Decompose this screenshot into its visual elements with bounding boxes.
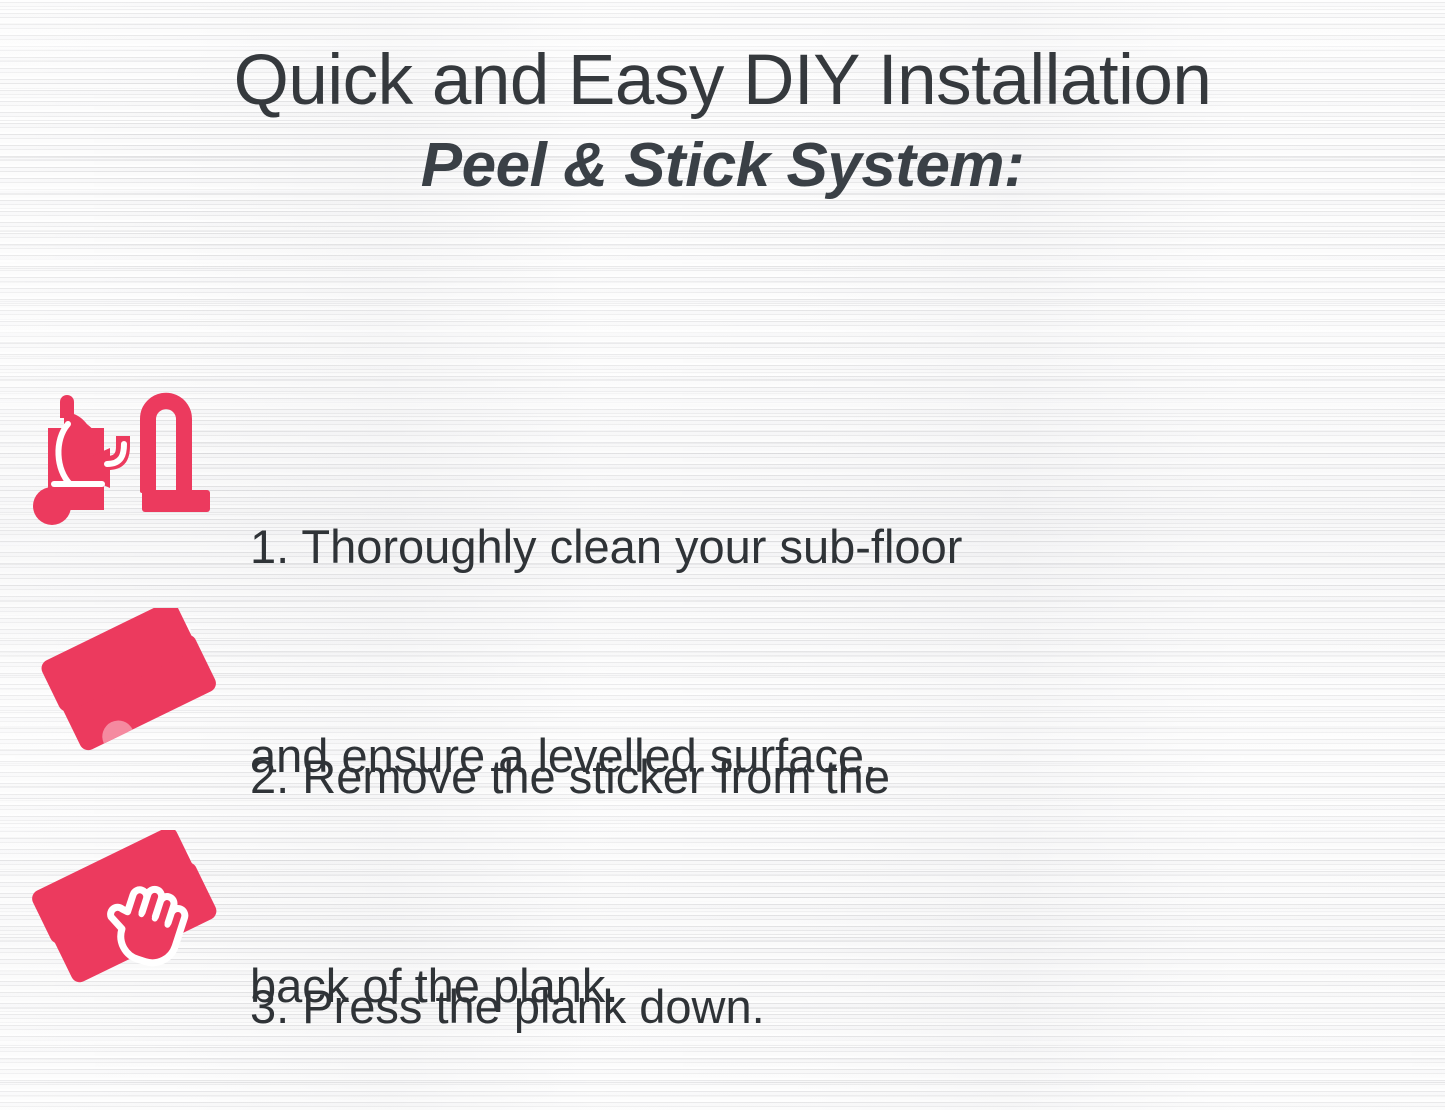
stacked-planks-peeling-sticker-icon [30,608,230,758]
step-3-text: 3. Press the plank down. Ensure the plan… [250,825,1445,1110]
step-2-icon-wrapper [0,595,250,770]
vacuum-cleaner-icon [30,378,230,528]
page-title: Quick and Easy DIY Installation [0,0,1445,119]
step-3-line-1: 3. Press the plank down. [250,972,1445,1042]
step-1-line-1: 1. Thoroughly clean your sub-floor [250,512,1445,582]
page-subtitle: Peel & Stick System: [0,119,1445,198]
step-2-line-1: 2. Remove the sticker from the [250,742,1445,812]
installation-instructions-graphic: Quick and Easy DIY Installation Peel & S… [0,0,1445,1110]
steps-list: 1. Thoroughly clean your sub-floor and e… [0,365,1445,1055]
header: Quick and Easy DIY Installation Peel & S… [0,0,1445,198]
step-item-1: 1. Thoroughly clean your sub-floor and e… [0,365,1445,595]
step-1-icon-wrapper [0,365,250,540]
step-3-icon-wrapper [0,825,250,1000]
step-item-3: 3. Press the plank down. Ensure the plan… [0,825,1445,1055]
step-item-2: 2. Remove the sticker from the back of t… [0,595,1445,825]
hand-pressing-plank-icon [25,830,235,995]
